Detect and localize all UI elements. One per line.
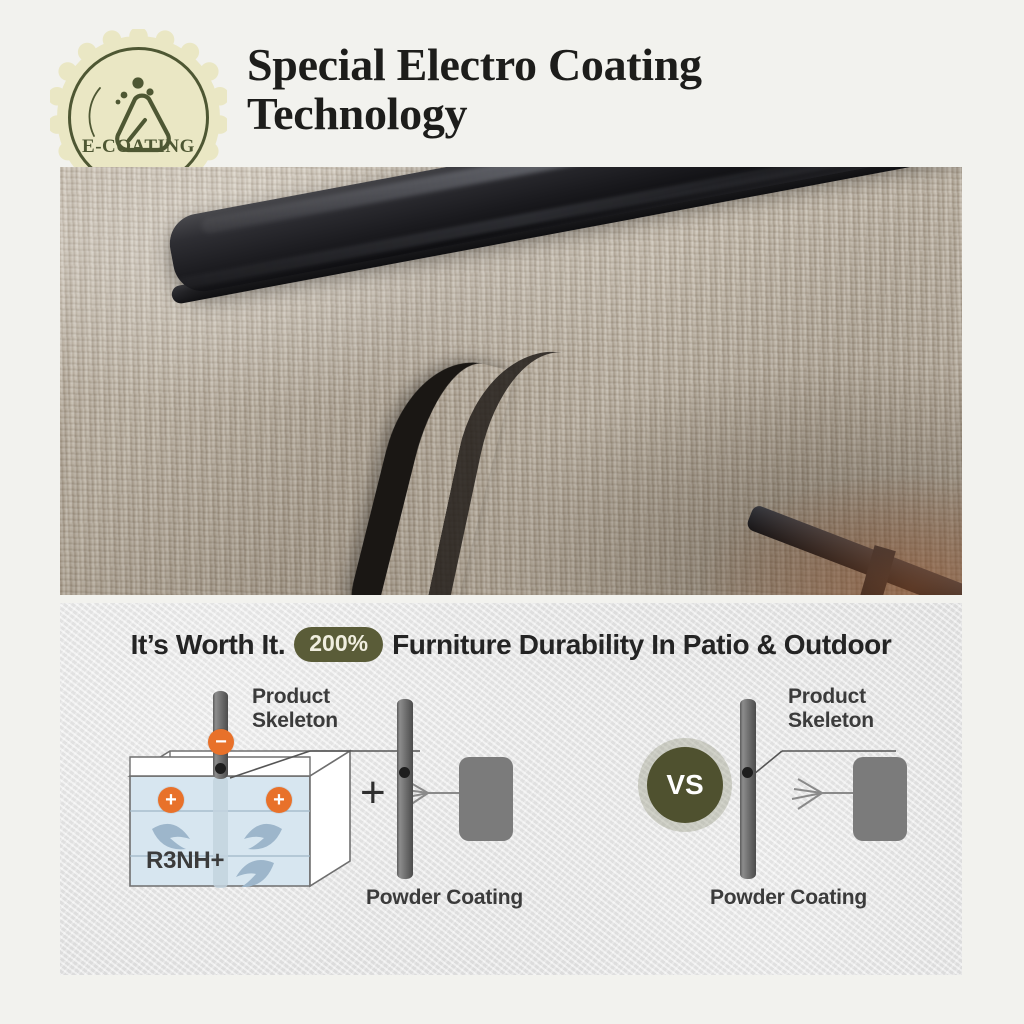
powder-spray-gun-left	[459, 757, 513, 841]
powder-rod-anchor-dot-left	[399, 767, 410, 778]
powder-rod-left	[397, 699, 413, 879]
coating-process-diagram: − + + Product Skeleton R3NH+ + Powder Co…	[60, 681, 962, 975]
panel-headline: It’s Worth It. 200% Furniture Durability…	[60, 627, 962, 662]
powder-rod-anchor-dot-right	[742, 767, 753, 778]
skeleton-label-right-line1: Product	[788, 685, 874, 709]
anion-left: +	[158, 787, 184, 813]
rod-anchor-dot-left	[215, 763, 226, 774]
comparison-panel: It’s Worth It. 200% Furniture Durability…	[60, 603, 962, 975]
powder-rod-right	[740, 699, 756, 879]
powder-spray-gun-right	[853, 757, 907, 841]
anion-right: +	[266, 787, 292, 813]
skeleton-label-left-line2: Skeleton	[252, 709, 338, 733]
solution-formula-label: R3NH+	[146, 848, 224, 875]
cathode-ion: −	[208, 729, 234, 755]
seal-label: E-COATING	[57, 136, 220, 158]
plus-operator: +	[360, 771, 386, 815]
spray-nozzle-right	[792, 779, 854, 809]
skeleton-label-left: Product Skeleton	[252, 685, 338, 732]
header: E-COATING Special Electro Coating Techno…	[0, 0, 1024, 167]
skeleton-label-left-line1: Product	[252, 685, 338, 709]
skeleton-label-right-line2: Skeleton	[788, 709, 874, 733]
page-title-line-1: Special Electro Coating	[247, 40, 947, 89]
skeleton-label-right: Product Skeleton	[788, 685, 874, 732]
photo-warm-corner	[702, 475, 962, 595]
powder-coating-label-left: Powder Coating	[366, 886, 523, 910]
powder-coating-label-right: Powder Coating	[710, 886, 867, 910]
page-title: Special Electro Coating Technology	[247, 40, 947, 138]
vs-badge: VS	[647, 747, 723, 823]
page-title-line-2: Technology	[247, 89, 947, 138]
durability-percent-badge: 200%	[294, 627, 383, 662]
headline-suffix: Furniture Durability In Patio & Outdoor	[392, 629, 891, 661]
product-photo	[60, 167, 962, 595]
headline-prefix: It’s Worth It.	[131, 629, 286, 661]
